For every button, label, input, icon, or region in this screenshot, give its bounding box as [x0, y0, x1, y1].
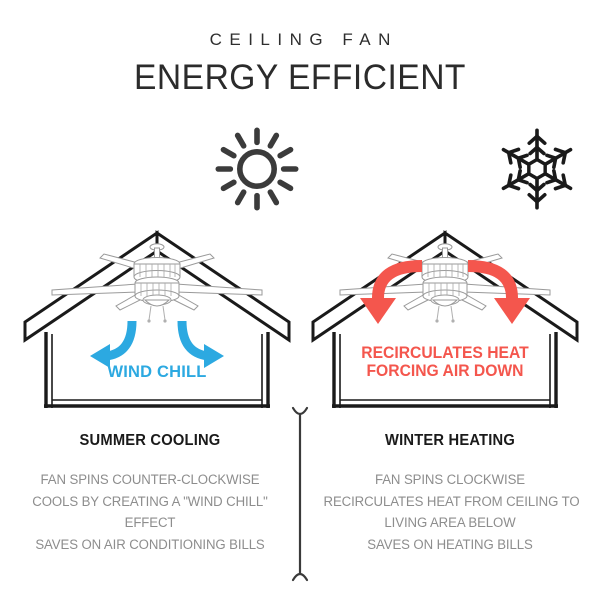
- house-label-winter-line1: RECIRCULATES HEAT: [361, 344, 528, 362]
- column-body-summer: FAN SPINS COUNTER-CLOCKWISE COOLS BY CRE…: [24, 470, 277, 556]
- house-label-summer-line1: WIND CHILL: [107, 362, 206, 381]
- column-body-summer-line1: FAN SPINS COUNTER-CLOCKWISE: [24, 470, 277, 492]
- column-body-summer-line4: SAVES ON AIR CONDITIONING BILLS: [24, 535, 277, 557]
- house-label-winter: RECIRCULATES HEAT FORCING AIR DOWN: [307, 344, 583, 381]
- snowflake-icon: [494, 126, 580, 212]
- column-title-summer: SUMMER COOLING: [21, 432, 279, 450]
- column-body-summer-line2: COOLS BY CREATING A "WIND CHILL": [24, 492, 277, 514]
- airflow-arrows-heat: [300, 228, 590, 410]
- house-label-summer: WIND CHILL: [16, 362, 297, 381]
- column-body-winter-line3: LIVING AREA BELOW: [324, 513, 577, 535]
- page-title: ENERGY EFFICIENT: [12, 58, 588, 98]
- column-body-winter-line4: SAVES ON HEATING BILLS: [324, 535, 577, 557]
- text-column-summer: SUMMER COOLING FAN SPINS COUNTER-CLOCKWI…: [14, 432, 286, 556]
- column-body-summer-line3: EFFECT: [24, 513, 277, 535]
- house-diagram-summer: WIND CHILL: [12, 228, 302, 410]
- house-label-winter-line2: FORCING AIR DOWN: [307, 362, 583, 380]
- column-title-winter: WINTER HEATING: [321, 432, 579, 450]
- infographic-page: CEILING FAN ENERGY EFFICIENT: [0, 0, 600, 600]
- text-column-winter: WINTER HEATING FAN SPINS CLOCKWISE RECIR…: [314, 432, 586, 556]
- airflow-arrows-cool: [12, 228, 302, 410]
- eyebrow-title: CEILING FAN: [0, 30, 600, 50]
- column-body-winter-line2: RECIRCULATES HEAT FROM CEILING TO: [324, 492, 577, 514]
- sun-icon: [214, 126, 300, 212]
- column-body-winter-line1: FAN SPINS CLOCKWISE: [324, 470, 577, 492]
- column-body-winter: FAN SPINS CLOCKWISE RECIRCULATES HEAT FR…: [324, 470, 577, 556]
- house-diagram-winter: RECIRCULATES HEAT FORCING AIR DOWN: [300, 228, 590, 410]
- column-divider: [285, 404, 315, 584]
